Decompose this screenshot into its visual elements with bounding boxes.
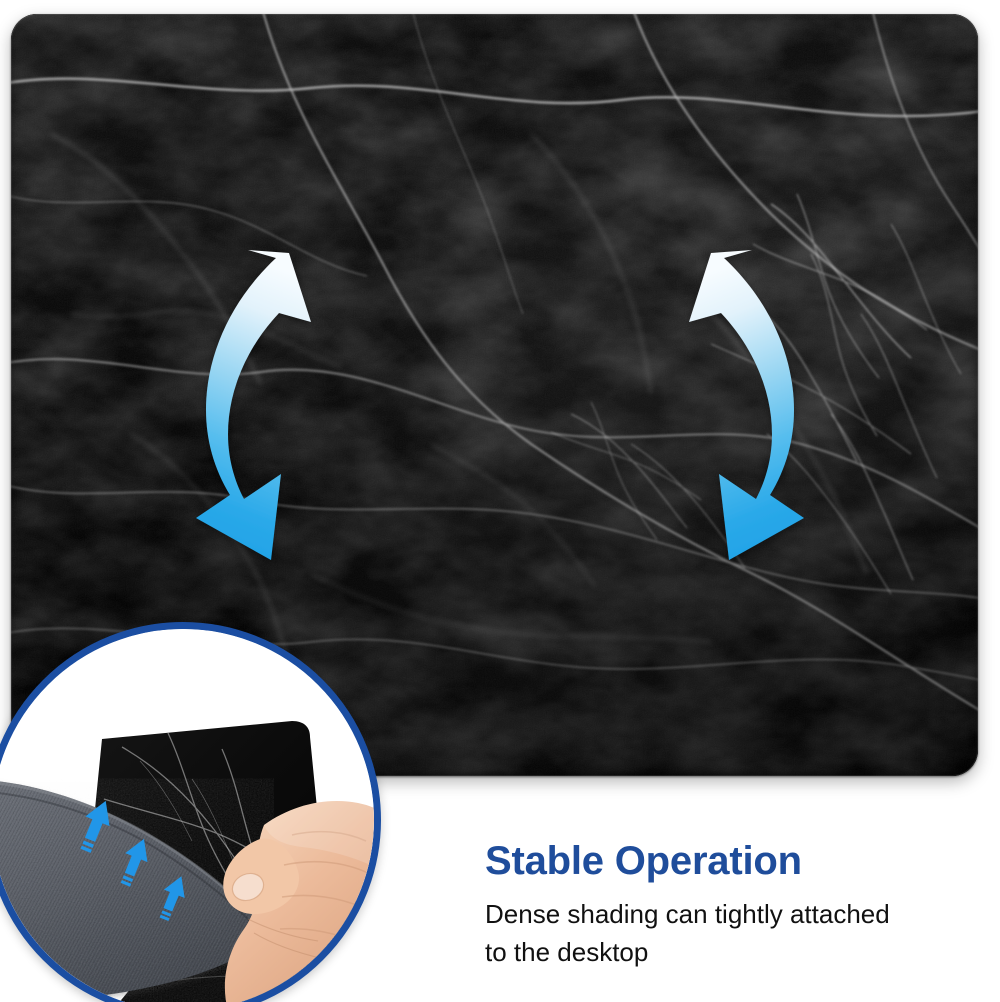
detail-circle-content	[0, 629, 374, 1002]
product-image-canvas: Stable Operation Dense shading can tight…	[0, 0, 1000, 1002]
hand-lifting-pad-illustration	[0, 629, 374, 1002]
caption-body-line-2: to the desktop	[485, 934, 955, 972]
caption-body: Dense shading can tightly attached to th…	[485, 896, 955, 971]
detail-circle-ring	[0, 622, 381, 1002]
caption-title: Stable Operation	[485, 840, 955, 882]
caption-block: Stable Operation Dense shading can tight…	[485, 840, 955, 971]
detail-circle	[0, 622, 381, 1002]
caption-body-line-1: Dense shading can tightly attached	[485, 896, 955, 934]
